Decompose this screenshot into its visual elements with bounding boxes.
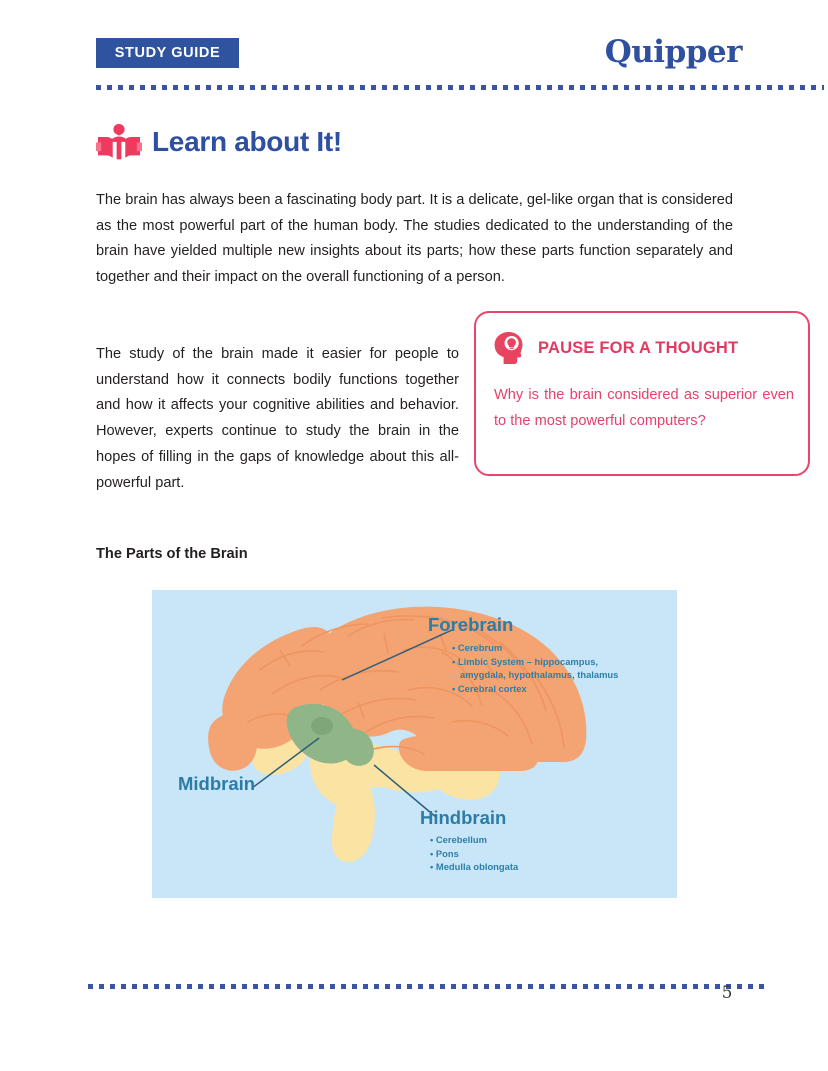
document-page: STUDY GUIDE Quipper Learn about It! The … — [0, 0, 828, 1071]
page-number: 5 — [715, 983, 739, 1003]
forebrain-item-0: • Cerebrum — [452, 641, 618, 655]
quipper-logo: Quipper — [605, 34, 742, 70]
person-reading-book-icon — [96, 122, 142, 162]
brain-diagram — [152, 590, 677, 898]
hindbrain-item-1: • Pons — [430, 847, 518, 861]
label-hindbrain-title: Hindbrain — [420, 807, 506, 829]
brain-illustration — [152, 590, 677, 898]
forebrain-item-1: • Limbic System – hippocampus, — [452, 655, 618, 669]
label-forebrain-title: Forebrain — [428, 614, 513, 636]
label-midbrain-title: Midbrain — [178, 773, 255, 795]
label-forebrain-items: • Cerebrum • Limbic System – hippocampus… — [452, 641, 618, 695]
pause-for-a-thought-callout: PAUSE FOR A THOUGHT Why is the brain con… — [474, 311, 810, 476]
callout-question: Why is the brain considered as superior … — [494, 383, 794, 434]
subheading-parts-of-the-brain: The Parts of the Brain — [96, 546, 248, 562]
forebrain-item-2: • Cerebral cortex — [452, 682, 618, 696]
footer-dotted-rule — [88, 984, 768, 989]
header-dotted-rule — [96, 85, 824, 90]
head-lightbulb-icon — [494, 331, 526, 365]
callout-header: PAUSE FOR A THOUGHT — [494, 331, 738, 365]
section-title: Learn about It! — [152, 126, 342, 158]
hindbrain-item-2: • Medulla oblongata — [430, 860, 518, 874]
label-hindbrain-items: • Cerebellum • Pons • Medulla oblongata — [430, 833, 518, 874]
callout-title: PAUSE FOR A THOUGHT — [538, 339, 738, 358]
forebrain-item-1-continued: amygdala, hypothalamus, thalamus — [452, 668, 618, 682]
paragraph-study: The study of the brain made it easier fo… — [96, 342, 459, 496]
study-guide-badge: STUDY GUIDE — [96, 38, 239, 68]
section-heading: Learn about It! — [96, 122, 342, 162]
paragraph-intro: The brain has always been a fascinating … — [96, 188, 733, 291]
hindbrain-item-0: • Cerebellum — [430, 833, 518, 847]
